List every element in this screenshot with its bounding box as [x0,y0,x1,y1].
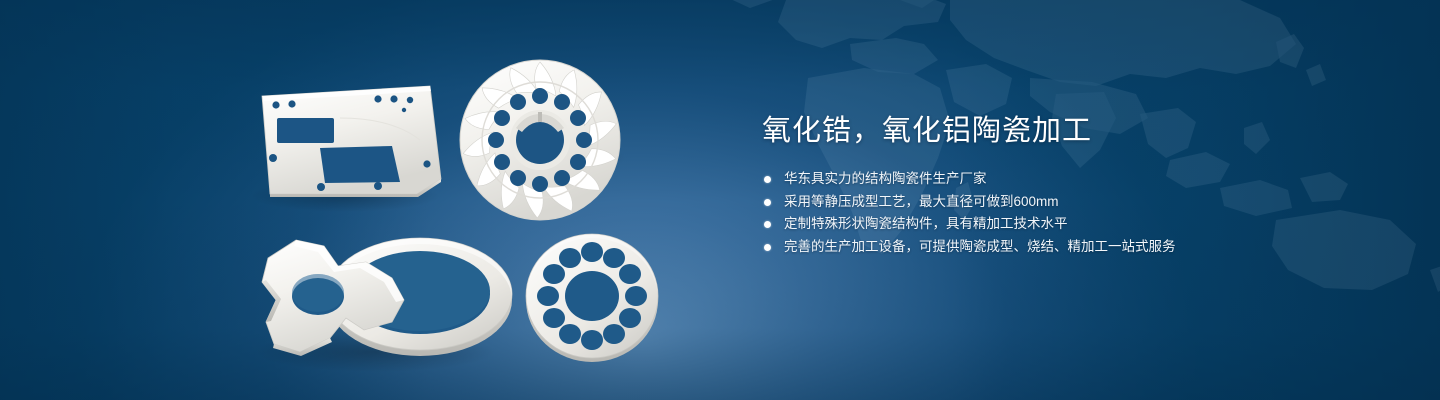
bullet-dot-icon [764,221,771,228]
list-item: 定制特殊形状陶瓷结构件，具有精加工技术水平 [762,213,1382,236]
bullet-dot-icon [764,176,771,183]
product-ceramic-impeller [454,60,626,220]
feature-text: 完善的生产加工设备，可提供陶瓷成型、烧结、精加工一站式服务 [784,239,1176,254]
bullet-dot-icon [764,199,771,206]
list-item: 完善的生产加工设备，可提供陶瓷成型、烧结、精加工一站式服务 [762,236,1382,259]
list-item: 华东具实力的结构陶瓷件生产厂家 [762,168,1382,191]
list-item: 采用等静压成型工艺，最大直径可做到600mm [762,191,1382,214]
product-ceramic-perforated-disc [522,234,662,362]
product-photo-cluster [0,0,720,400]
banner-copy: 氧化锆，氧化铝陶瓷加工 华东具实力的结构陶瓷件生产厂家 采用等静压成型工艺，最大… [762,112,1382,258]
bullet-dot-icon [764,244,771,251]
banner-feature-list: 华东具实力的结构陶瓷件生产厂家 采用等静压成型工艺，最大直径可做到600mm 定… [762,168,1382,258]
product-ceramic-plate [250,86,441,212]
feature-text: 采用等静压成型工艺，最大直径可做到600mm [784,194,1059,209]
promo-banner: 氧化锆，氧化铝陶瓷加工 华东具实力的结构陶瓷件生产厂家 采用等静压成型工艺，最大… [0,0,1440,400]
feature-text: 定制特殊形状陶瓷结构件，具有精加工技术水平 [784,216,1068,231]
product-ceramic-cross-and-ring [255,238,512,372]
banner-headline: 氧化锆，氧化铝陶瓷加工 [762,112,1382,150]
feature-text: 华东具实力的结构陶瓷件生产厂家 [784,171,987,186]
